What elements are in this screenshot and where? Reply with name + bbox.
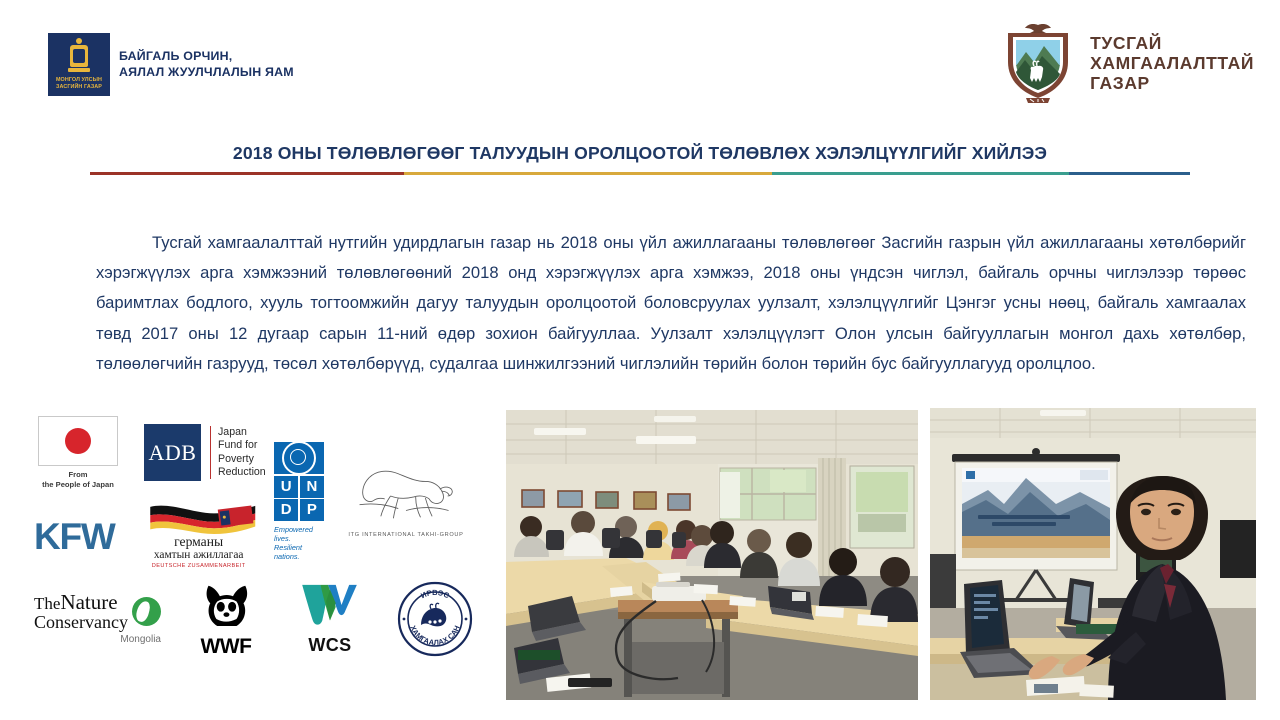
- slide: МОНГОЛ УЛСЫН ЗАСГИЙН ГАЗАР БАЙГАЛЬ ОРЧИН…: [0, 0, 1280, 720]
- partner-logo-nature-conservancy: TheNature Conservancy Mongolia: [34, 593, 161, 645]
- agency-logo: ТУСГАЙ ХАМГААЛАЛТТАЙ ГАЗАР: [1000, 22, 1254, 104]
- wcs-wordmark: WCS: [291, 635, 369, 656]
- body-paragraph-text: Тусгай хамгаалалттай нутгийн удирдлагын …: [96, 233, 1246, 373]
- partner-logo-wcs: WCS: [291, 582, 369, 656]
- japan-people-caption: From the People of Japan: [34, 470, 122, 489]
- adb-fund-caption: Japan Fund for Poverty Reduction: [210, 426, 266, 480]
- german-cooperation-line2: хамтын ажиллагаа: [135, 549, 263, 562]
- partner-logo-kfw: KFW: [34, 517, 115, 557]
- undp-letter-n: N: [300, 476, 324, 498]
- photo-meeting-room: [506, 410, 918, 700]
- nature-conservancy-globe-icon: [132, 597, 161, 626]
- takhi-horse-icon: [346, 466, 466, 531]
- state-emblem-caption: МОНГОЛ УЛСЫН ЗАСГИЙН ГАЗАР: [48, 77, 110, 91]
- page-title: 2018 ОНЫ ТӨЛӨВЛӨГӨӨГ ТАЛУУДЫН ОРОЛЦООТОЙ…: [90, 142, 1190, 164]
- photo-presenter: [930, 408, 1256, 700]
- partner-logo-grid: From the People of Japan ADB Japan Fund …: [22, 408, 492, 678]
- partner-logo-german-cooperation: германы хамтын ажиллагаа DEUTSCHE ZUSAMM…: [135, 504, 263, 569]
- partner-logo-takhi-group: ITG INTERNATIONAL TAKHI-GROUP: [346, 466, 466, 538]
- snow-leopard-seal-icon: ИРВЭС ХАМГААЛАХ САН: [397, 581, 473, 657]
- partner-logo-undp: U N D P Empowered lives. Resilient natio…: [274, 442, 324, 561]
- title-underline: [90, 172, 1190, 175]
- tnc-country: Mongolia: [34, 634, 161, 645]
- undp-wordmark: U N D P: [274, 476, 324, 522]
- tnc-the: The: [34, 594, 60, 613]
- wwf-panda-icon: [189, 580, 263, 635]
- slide-header: МОНГОЛ УЛСЫН ЗАСГИЙН ГАЗАР БАЙГАЛЬ ОРЧИН…: [0, 0, 1280, 120]
- wcs-w-icon: [291, 582, 369, 633]
- partner-logo-row-3: TheNature Conservancy Mongolia: [34, 580, 473, 658]
- mongolia-state-emblem-icon: МОНГОЛ УЛСЫН ЗАСГИЙН ГАЗАР: [48, 33, 110, 96]
- undp-letter-d: D: [274, 499, 298, 521]
- partner-logo-japan-people: From the People of Japan: [34, 416, 122, 489]
- ministry-logo: МОНГОЛ УЛСЫН ЗАСГИЙН ГАЗАР БАЙГАЛЬ ОРЧИН…: [48, 33, 294, 96]
- tnc-nature: Nature: [60, 590, 117, 614]
- body-paragraph: Тусгай хамгаалалттай нутгийн удирдлагын …: [96, 228, 1246, 379]
- undp-slogan: Empowered lives. Resilient nations.: [274, 525, 324, 561]
- partner-logo-row-2: KFW германы хамтын ажиллагаа DEUTSCHE ZU…: [34, 504, 263, 569]
- japan-flag-icon: [38, 416, 118, 466]
- protected-area-shield-icon: [1000, 22, 1076, 104]
- underline-segment-2: [404, 172, 773, 175]
- soyombo-emblem-icon: [68, 38, 90, 74]
- partner-logo-row-1b: U N D P Empowered lives. Resilient natio…: [274, 442, 466, 561]
- partner-logo-row-1: From the People of Japan ADB Japan Fund …: [34, 416, 266, 489]
- adb-wordmark: ADB: [144, 424, 201, 481]
- undp-letter-p: P: [300, 499, 324, 521]
- german-cooperation-line1: германы: [135, 534, 263, 549]
- partner-logo-adb: ADB Japan Fund for Poverty Reduction: [144, 424, 266, 481]
- svg-text:ХАМГААЛАХ САН: ХАМГААЛАХ САН: [408, 624, 461, 647]
- ministry-name: БАЙГАЛЬ ОРЧИН, АЯЛАЛ ЖУУЛЧЛАЛЫН ЯАМ: [119, 49, 294, 80]
- underline-segment-4: [1069, 172, 1190, 175]
- german-mongolian-flags-icon: [135, 504, 263, 534]
- wwf-wordmark: WWF: [189, 636, 263, 658]
- undp-letter-u: U: [274, 476, 298, 498]
- takhi-group-caption: ITG INTERNATIONAL TAKHI-GROUP: [346, 532, 466, 538]
- title-block: 2018 ОНЫ ТӨЛӨВЛӨГӨӨГ ТАЛУУДЫН ОРОЛЦООТОЙ…: [90, 142, 1190, 175]
- svg-text:ИРВЭС: ИРВЭС: [419, 588, 451, 601]
- underline-segment-1: [90, 172, 404, 175]
- tnc-conservancy: Conservancy: [34, 613, 128, 632]
- partner-logo-snow-leopard-fund: ИРВЭС ХАМГААЛАХ САН: [397, 581, 473, 657]
- german-cooperation-line3: DEUTSCHE ZUSAMMENARBEIT: [135, 563, 263, 569]
- un-wreath-icon: [274, 442, 324, 474]
- partner-logo-wwf: WWF: [189, 580, 263, 658]
- underline-segment-3: [772, 172, 1069, 175]
- agency-name: ТУСГАЙ ХАМГААЛАЛТТАЙ ГАЗАР: [1090, 33, 1254, 93]
